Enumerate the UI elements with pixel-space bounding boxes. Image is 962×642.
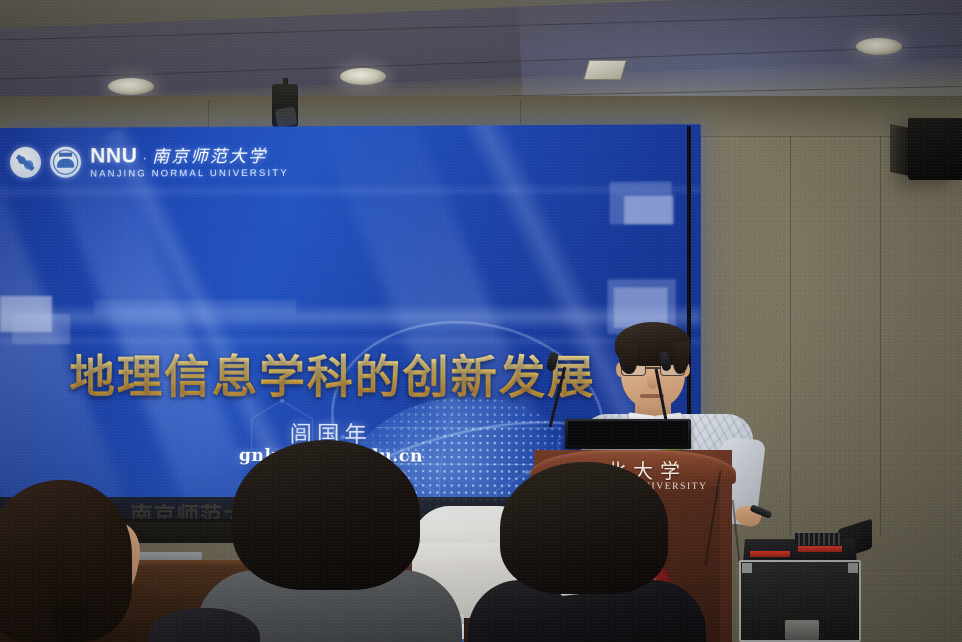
presenter-hair: [615, 322, 691, 366]
slide-highlight-band: [0, 183, 701, 198]
glasses-bridge: [646, 367, 660, 369]
case-handle[interactable]: [785, 620, 819, 640]
ceiling-downlight-icon: [856, 38, 902, 55]
mixer-knobs: [795, 533, 841, 545]
slide-light-block: [94, 300, 296, 314]
vge-lab-logo-icon: [10, 147, 41, 178]
case-corner: [742, 563, 752, 573]
ceiling-downlight-icon: [340, 68, 386, 85]
logo-mark: [15, 152, 36, 173]
ceiling-downlight-icon: [108, 78, 154, 95]
ceiling-projector-icon: [272, 84, 298, 128]
brand-line-primary: NNU · 南京师范大学: [90, 145, 289, 167]
audience-head-right: [500, 462, 668, 594]
brand-name-cn: 南京师范大学: [152, 149, 267, 167]
brand-separator: ·: [142, 150, 147, 164]
seal-gate: [57, 159, 74, 168]
slide-light-block: [12, 314, 70, 344]
case-corner: [848, 563, 858, 573]
laptop-icon: [565, 419, 691, 449]
lecture-hall-photo: NNU · 南京师范大学 NANJING NORMAL UNIVERSITY 地…: [0, 0, 962, 642]
seal-stars: [59, 153, 72, 157]
ceiling-square-light-icon: [583, 60, 627, 80]
wall-speaker-icon: [908, 118, 962, 180]
wall-seam: [880, 136, 881, 536]
wall-speaker-side: [890, 124, 910, 176]
brand-acronym: NNU: [90, 145, 137, 166]
mixer-accent-strip: [750, 551, 790, 557]
slide-light-block: [624, 196, 674, 225]
laptop-display: [568, 421, 688, 446]
brand-name-en: NANJING NORMAL UNIVERSITY: [90, 169, 289, 179]
slide-title: 地理信息学科的创新发展: [68, 340, 597, 406]
wall-seam: [790, 136, 791, 536]
mixer-accent-strip: [798, 546, 842, 552]
brand-text: NNU · 南京师范大学 NANJING NORMAL UNIVERSITY: [90, 145, 289, 180]
audience-head-center: [232, 440, 420, 590]
nnu-seal-icon: [50, 147, 81, 178]
slide-brand-header: NNU · 南京师范大学 NANJING NORMAL UNIVERSITY: [10, 145, 289, 180]
